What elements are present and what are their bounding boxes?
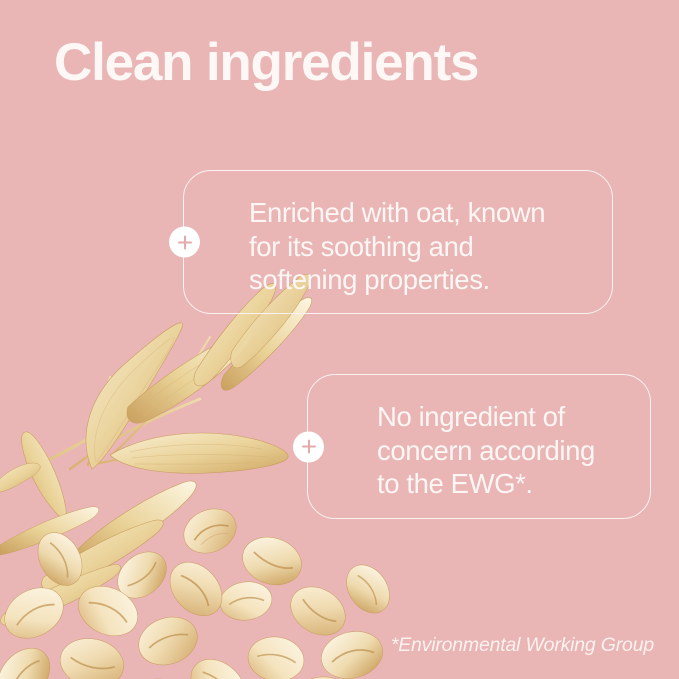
- plus-icon: [169, 227, 200, 258]
- plus-icon-vertical-bar: [184, 235, 186, 249]
- page-title: Clean ingredients: [54, 36, 478, 89]
- plus-icon: [293, 431, 324, 462]
- product-infographic: Clean ingredients Enriched with oat, kno…: [0, 0, 679, 679]
- benefit-card-no-ingredient-of-concern: No ingredient of concern according to th…: [307, 374, 651, 519]
- benefit-card-text: Enriched with oat, known for its soothin…: [249, 196, 604, 297]
- footnote: *Environmental Working Group: [391, 634, 654, 657]
- plus-icon-vertical-bar: [308, 440, 310, 454]
- benefit-card-enriched-with-oat: Enriched with oat, known for its soothin…: [183, 170, 613, 314]
- benefit-card-text: No ingredient of concern according to th…: [377, 400, 652, 501]
